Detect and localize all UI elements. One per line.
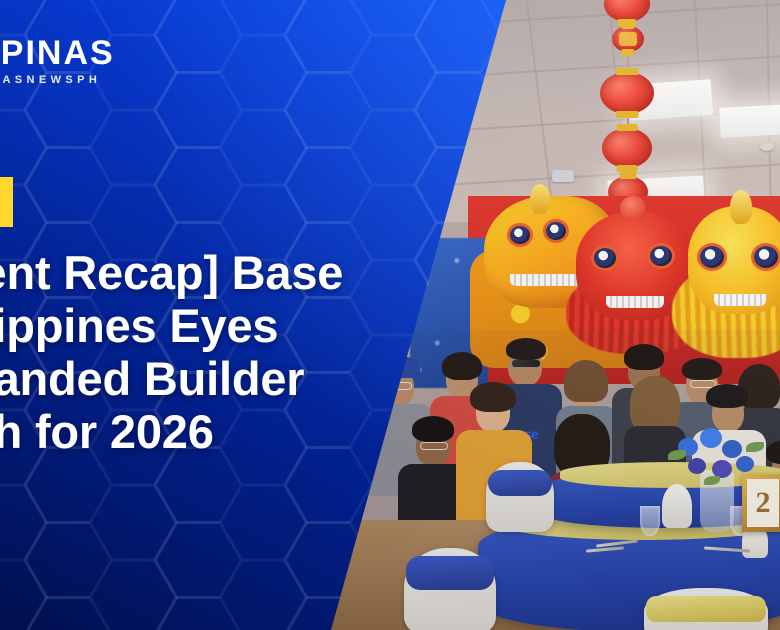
ceiling-light-2 xyxy=(719,104,780,138)
folded-napkin-1 xyxy=(662,484,692,528)
brand-logo[interactable]: BITPINAS BITPINASNEWSPH xyxy=(0,36,115,86)
chair-sash-3 xyxy=(646,596,766,622)
logo-tagline: BITPINASNEWSPH xyxy=(0,74,115,86)
lion-pompom xyxy=(620,196,646,220)
banner-thumbnail: ns.ph xyxy=(0,0,780,630)
lantern-2 xyxy=(612,26,644,52)
accent-bar xyxy=(0,177,13,227)
chair-sash-1 xyxy=(488,470,552,496)
lantern-4 xyxy=(602,128,652,168)
table-number-value: 2 xyxy=(756,486,771,520)
table-number-card: 2 xyxy=(742,474,780,532)
ceiling-vent xyxy=(552,170,574,182)
lantern-3 xyxy=(600,72,654,114)
chair-sash-2 xyxy=(406,556,494,590)
yellow-lion-head xyxy=(688,206,780,314)
logo-wordmark: BITPINAS xyxy=(0,36,115,70)
smoke-detector-icon xyxy=(760,142,774,151)
water-glass-1 xyxy=(640,506,660,536)
